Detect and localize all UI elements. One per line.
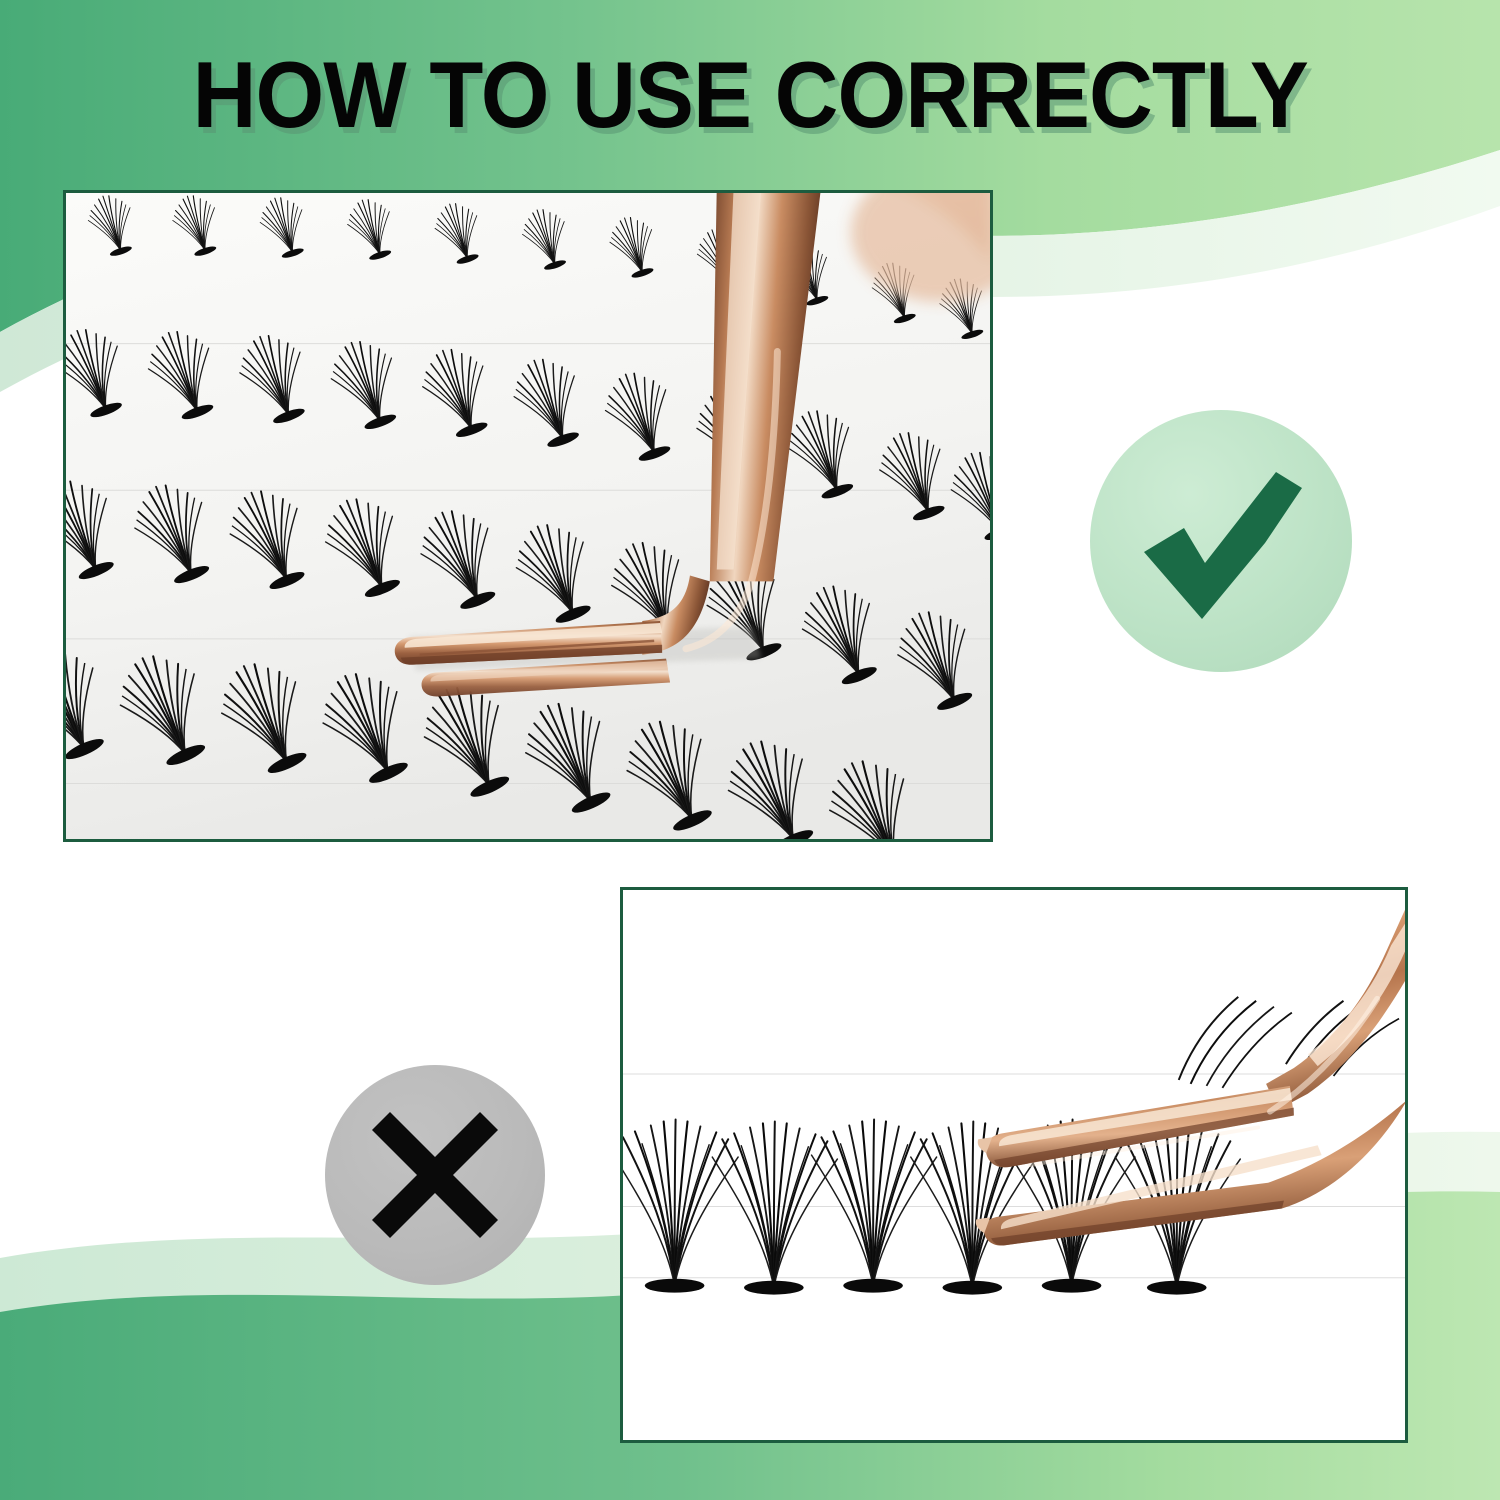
title-band: HOW TO USE CORRECTLY (0, 40, 1500, 150)
correct-badge (1090, 410, 1352, 672)
infographic-canvas: HOW TO USE CORRECTLY (0, 0, 1500, 1500)
correct-usage-photo (63, 190, 993, 842)
page-title: HOW TO USE CORRECTLY (192, 48, 1307, 142)
incorrect-usage-image (623, 890, 1405, 1440)
incorrect-usage-photo (620, 887, 1408, 1443)
incorrect-badge (325, 1065, 545, 1285)
check-icon (1126, 446, 1316, 636)
cross-icon (360, 1100, 510, 1250)
correct-usage-image (66, 193, 990, 839)
